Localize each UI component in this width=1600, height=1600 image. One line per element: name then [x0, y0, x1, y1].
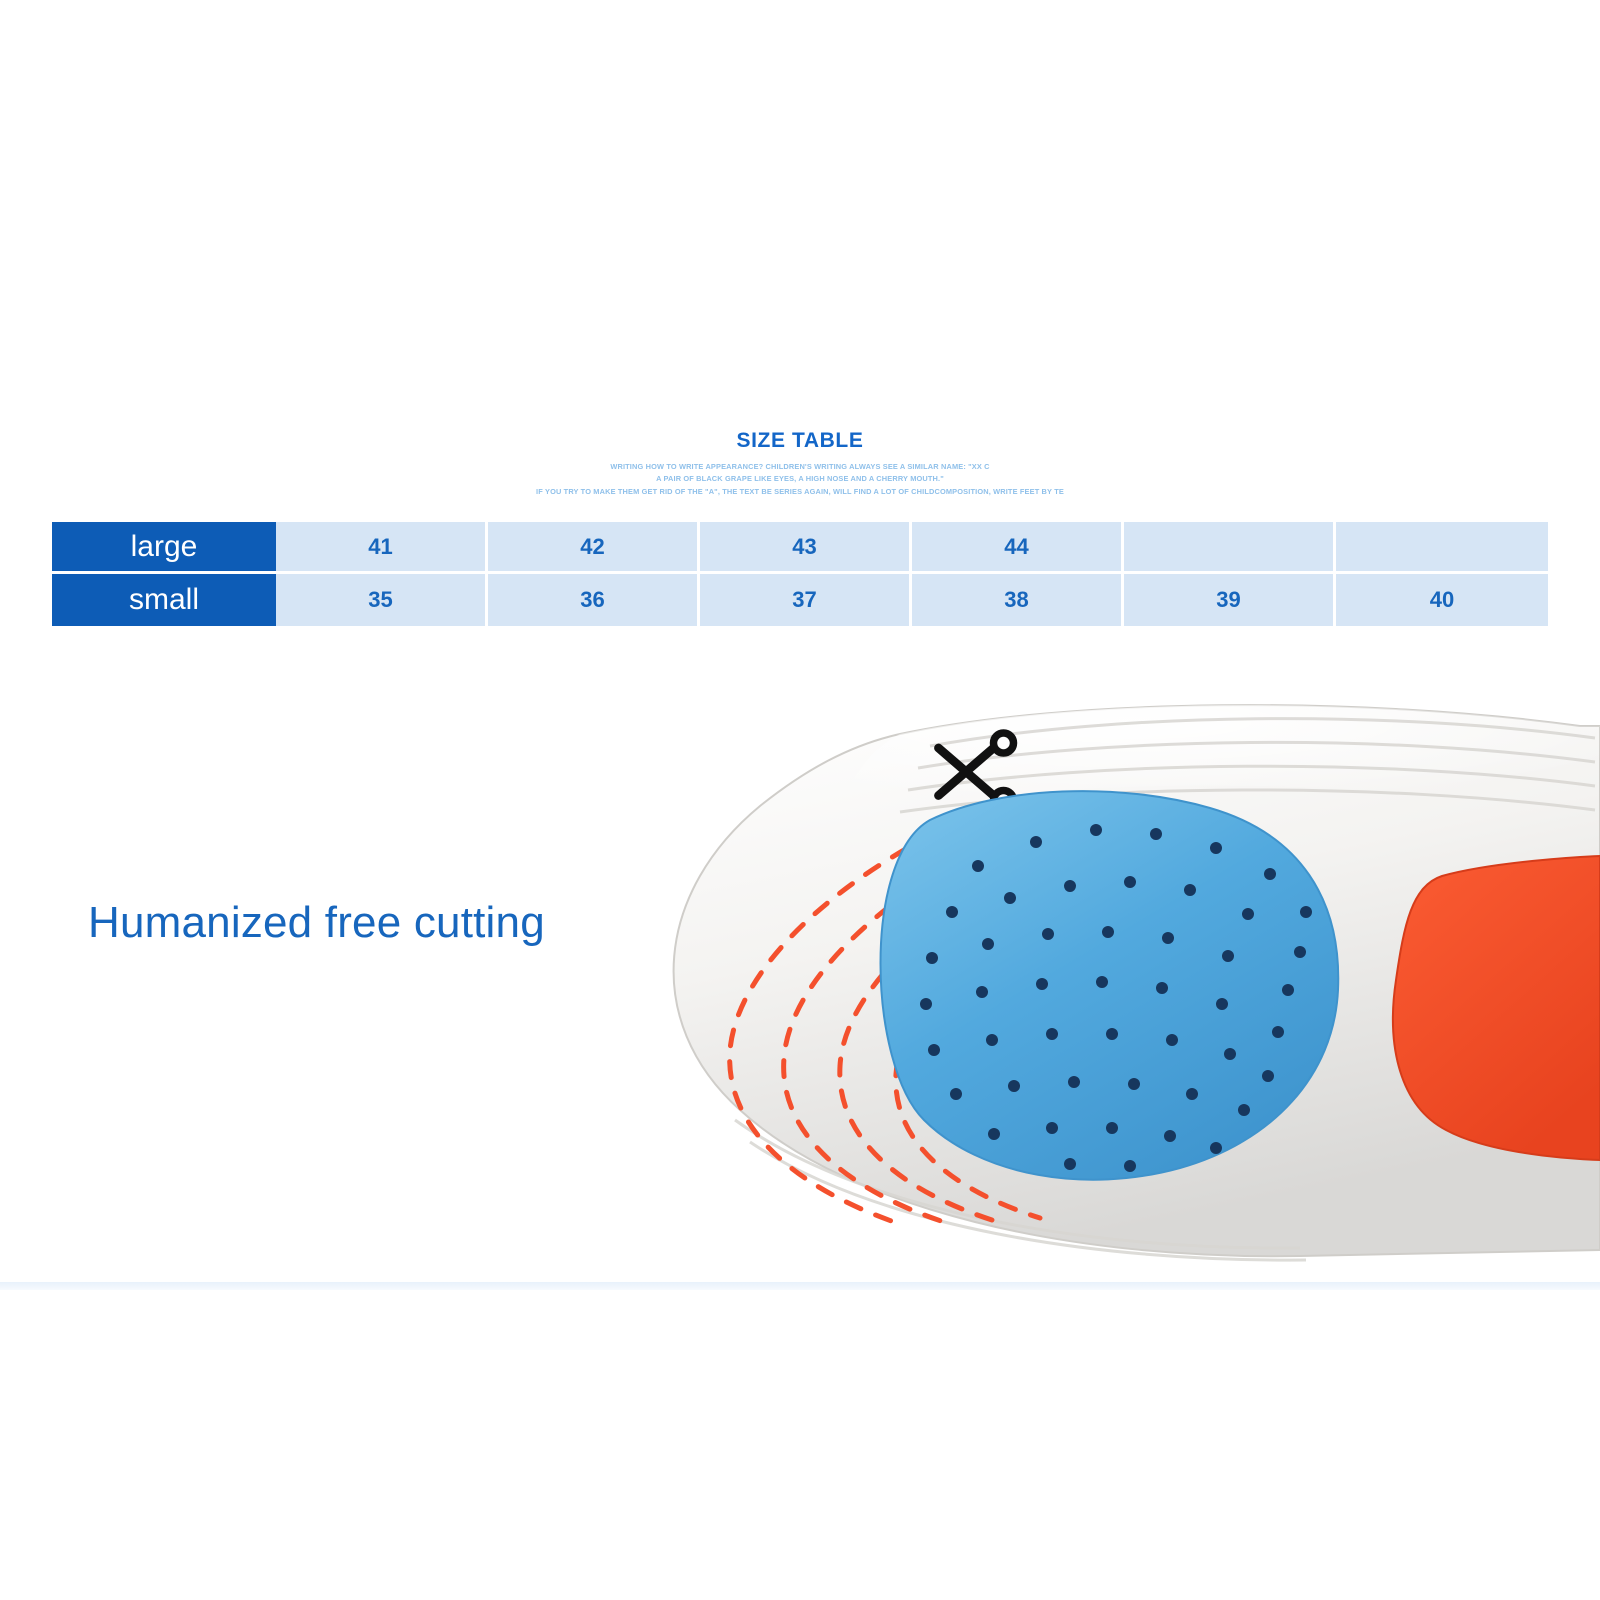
size-cell: 39 — [1124, 574, 1336, 626]
table-row: small 35 36 37 38 39 40 — [52, 574, 1548, 626]
bottom-divider — [0, 1282, 1600, 1290]
size-cell: 44 — [912, 522, 1124, 574]
size-cell-empty — [1124, 522, 1336, 574]
size-table-heading-block: SIZE TABLE WRITING HOW TO WRITE APPEARAN… — [0, 428, 1600, 498]
product-infographic-page: SIZE TABLE WRITING HOW TO WRITE APPEARAN… — [0, 0, 1600, 1600]
blue-gel-pad — [881, 791, 1339, 1180]
table-row: large 41 42 43 44 — [52, 522, 1548, 574]
red-heel-pad — [1393, 856, 1600, 1160]
size-table-container: large 41 42 43 44 small 35 36 37 38 39 4… — [52, 522, 1548, 626]
fineprint-line-1: WRITING HOW TO WRITE APPEARANCE? CHILDRE… — [0, 461, 1600, 473]
size-cell: 40 — [1336, 574, 1548, 626]
size-cell: 37 — [700, 574, 912, 626]
size-cell: 41 — [276, 522, 488, 574]
size-cell: 38 — [912, 574, 1124, 626]
size-cell: 35 — [276, 574, 488, 626]
row-header-small: small — [52, 574, 276, 626]
insole-product-image — [600, 690, 1600, 1290]
size-cell-empty — [1336, 522, 1548, 574]
fineprint-line-2: A PAIR OF BLACK GRAPE LIKE EYES, A HIGH … — [0, 473, 1600, 485]
size-cell: 43 — [700, 522, 912, 574]
page-title: SIZE TABLE — [0, 428, 1600, 454]
row-header-large: large — [52, 522, 276, 574]
size-cell: 36 — [488, 574, 700, 626]
fineprint-paragraph: WRITING HOW TO WRITE APPEARANCE? CHILDRE… — [0, 461, 1600, 498]
fineprint-line-3: IF YOU TRY TO MAKE THEM GET RID OF THE "… — [0, 486, 1600, 498]
feature-caption: Humanized free cutting — [88, 898, 545, 948]
size-cell: 42 — [488, 522, 700, 574]
size-table: large 41 42 43 44 small 35 36 37 38 39 4… — [52, 522, 1548, 626]
